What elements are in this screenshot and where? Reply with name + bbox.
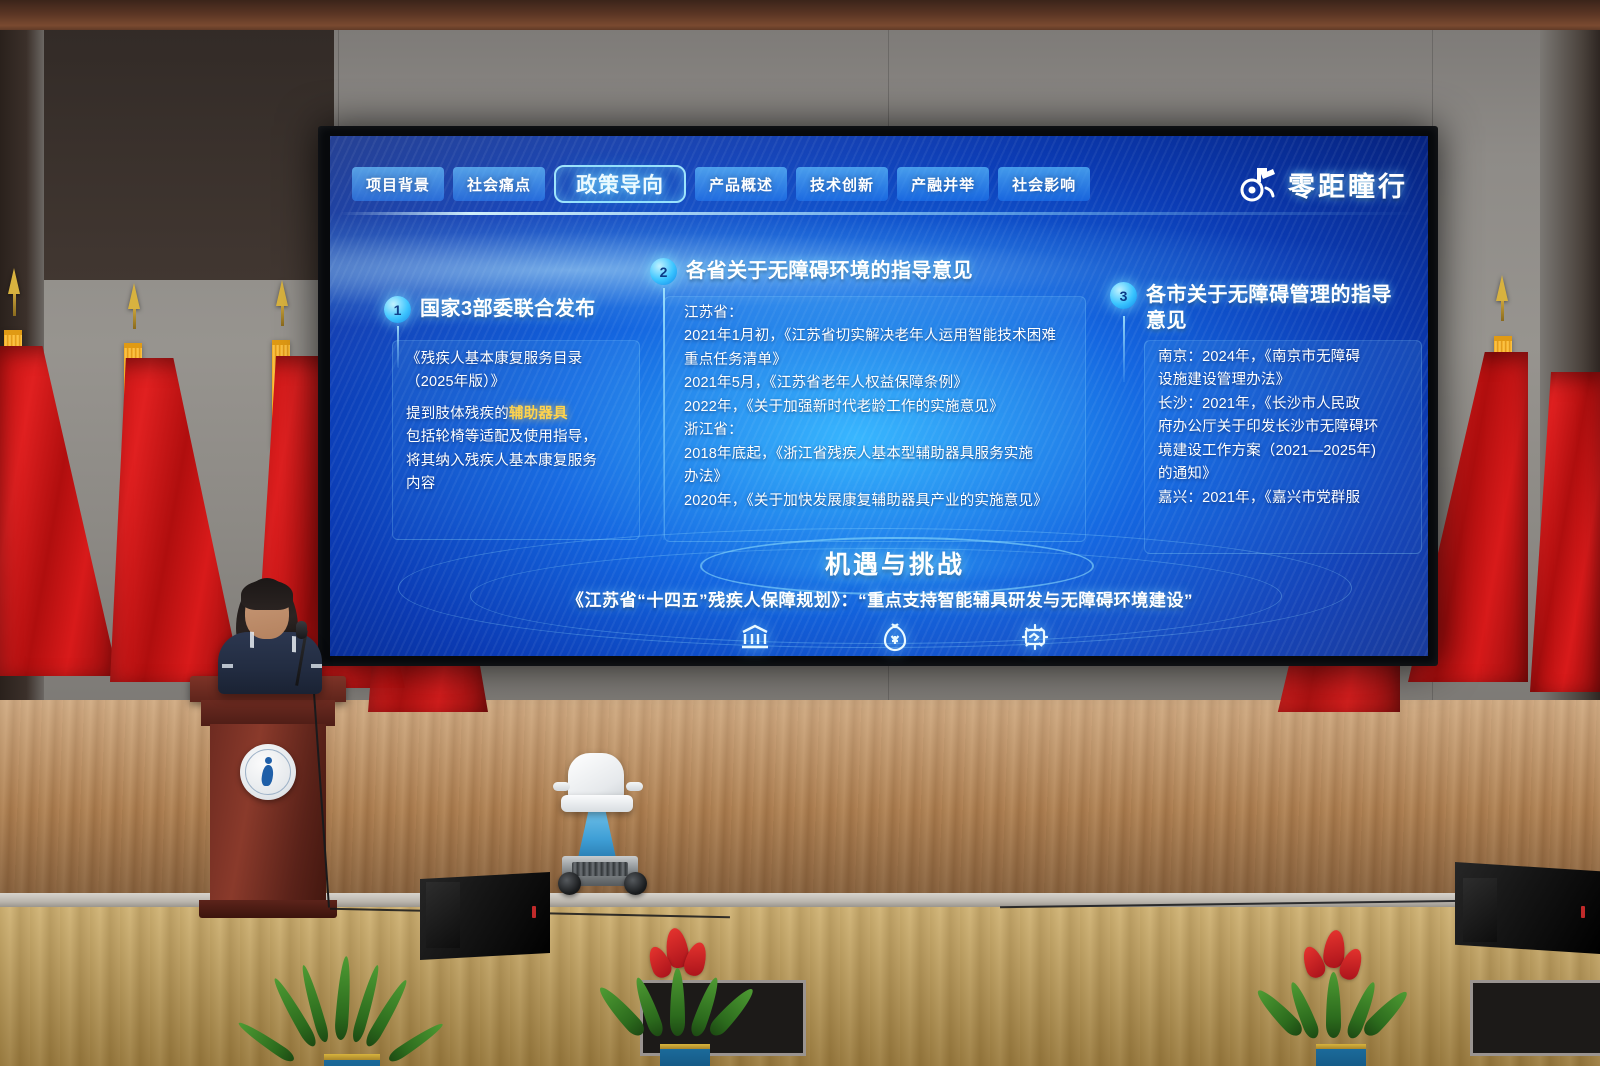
robot-wheel-left	[558, 872, 581, 895]
money-bag-icon	[882, 622, 908, 652]
tab-product-overview[interactable]: 产品概述	[695, 167, 787, 201]
card-1-desc-pre: 提到肢体残疾的	[406, 406, 509, 422]
card-2-entry-7: 办法》	[684, 466, 1088, 489]
card-1-title: 国家3部委联合发布	[420, 296, 596, 322]
card-2-entry-0: 江苏省：	[684, 302, 1088, 325]
banner-icon-row	[700, 622, 1090, 652]
card-2-badge: 2	[650, 258, 677, 285]
nav-underline	[340, 212, 1420, 215]
tab-industry-finance[interactable]: 产融并举	[897, 167, 989, 201]
conference-hall-scene: 项目背景 社会痛点 政策导向 产品概述 技术创新 产融并举 社会影响 零距瞳行 …	[0, 0, 1600, 1066]
card-2-entry-8: 2020年，《关于加快发展康复辅助器具产业的实施意见》	[684, 490, 1088, 513]
card-3-entry-3: 府办公厅关于印发长沙市无障碍环	[1158, 416, 1420, 439]
microphone-head	[296, 621, 307, 639]
card-3-title: 各市关于无障碍管理的指导意见	[1146, 282, 1396, 334]
tab-tech-innovation[interactable]: 技术创新	[796, 167, 888, 201]
card-2-header: 2 各省关于无障碍环境的指导意见	[650, 258, 1080, 285]
podium-emblem	[240, 744, 296, 800]
tab-project-background[interactable]: 项目背景	[352, 167, 444, 201]
card-3-entry-2: 长沙：2021年，《长沙市人民政	[1158, 393, 1420, 416]
slide-nav-bar: 项目背景 社会痛点 政策导向 产品概述 技术创新 产融并举 社会影响 零距瞳行	[352, 166, 1412, 202]
robot-seat	[561, 795, 633, 812]
robot-wheel-right	[624, 872, 647, 895]
stage-monitor-speaker-right	[1455, 862, 1600, 954]
government-building-icon	[740, 623, 770, 651]
policy-card-provincial: 2 各省关于无障碍环境的指导意见	[650, 258, 1080, 285]
card-3-connector	[1123, 316, 1125, 382]
policy-card-national: 1 国家3部委联合发布	[384, 296, 634, 323]
ceiling-soffit	[0, 0, 1600, 34]
card-1-desc-line-2: 包括轮椅等适配及使用指导，	[406, 426, 634, 449]
card-1-desc-highlight: 辅助器具	[509, 406, 568, 422]
card-1-header: 1 国家3部委联合发布	[384, 296, 634, 323]
card-3-entry-1: 设施建设管理办法》	[1158, 369, 1420, 392]
card-3-entry-0: 南京：2024年，《南京市无障碍	[1158, 346, 1420, 369]
robot-chair-back	[568, 753, 624, 801]
card-1-desc-line-4: 内容	[406, 473, 634, 496]
banner-quote: 《江苏省“十四五”残疾人保障规划》：“重点支持智能辅具研发与无障碍环境建设”	[420, 586, 1340, 611]
card-1-desc-line-3: 将其纳入残疾人基本康复服务	[406, 450, 634, 473]
robot-armrest-right	[626, 782, 643, 791]
presenter-sleeve-stripe	[222, 664, 233, 668]
tab-policy-guidance[interactable]: 政策导向	[554, 165, 686, 203]
card-2-title: 各省关于无障碍环境的指导意见	[686, 258, 973, 284]
tab-social-painpoints[interactable]: 社会痛点	[453, 167, 545, 201]
card-3-entry-6: 嘉兴：2021年，《嘉兴市党群服	[1158, 487, 1420, 510]
card-1-body: 《残疾人基本康复服务目录 （2025年版）》 提到肢体残疾的辅助器具 包括轮椅等…	[406, 348, 634, 497]
stage-monitor-speaker-left	[420, 872, 550, 960]
tab-social-impact[interactable]: 社会影响	[998, 167, 1090, 201]
robot-chassis-detail	[572, 862, 628, 876]
card-3-header: 3 各市关于无障碍管理的指导意见	[1110, 282, 1400, 334]
podium-base	[199, 900, 337, 918]
card-2-entry-2: 重点任务清单》	[684, 349, 1088, 372]
card-3-entry-5: 的通知》	[1158, 463, 1420, 486]
card-1-doc-line-2: （2025年版）》	[406, 371, 634, 394]
robot-armrest-left	[553, 782, 570, 791]
card-2-entry-1: 2021年1月初，《江苏省切实解决老年人运用智能技术困难	[684, 325, 1088, 348]
presenter-hair-front	[241, 580, 293, 610]
card-2-entry-5: 浙江省：	[684, 419, 1088, 442]
card-3-entry-4: 境建设工作方案（2021—2025年)	[1158, 440, 1420, 463]
card-3-body: 南京：2024年，《南京市无障碍 设施建设管理办法》 长沙：2021年，《长沙市…	[1158, 346, 1420, 510]
brand-logo: 零距瞳行	[1237, 165, 1412, 204]
card-1-desc-line-1: 提到肢体残疾的辅助器具	[406, 403, 634, 426]
brand-logo-text: 零距瞳行	[1288, 165, 1408, 204]
card-2-body: 江苏省： 2021年1月初，《江苏省切实解决老年人运用智能技术困难 重点任务清单…	[684, 302, 1088, 513]
handshake-icon	[1020, 622, 1050, 652]
banner-title: 机遇与挑战	[700, 545, 1090, 581]
card-1-badge: 1	[384, 296, 411, 323]
card-3-badge: 3	[1110, 282, 1137, 309]
card-2-entry-4: 2022年，《关于加强新时代老龄工作的实施意见》	[684, 396, 1088, 419]
wall-dark-panel	[44, 30, 334, 280]
card-1-doc-line-1: 《残疾人基本康复服务目录	[406, 348, 634, 371]
card-2-entry-3: 2021年5月，《江苏省老年人权益保障条例》	[684, 372, 1088, 395]
wheelchair-icon	[1237, 166, 1279, 202]
card-2-entry-6: 2018年底起，《浙江省残疾人基本型辅助器具服务实施	[684, 443, 1088, 466]
apron-vent	[1470, 980, 1600, 1056]
presenter-sleeve-stripe	[311, 664, 322, 668]
policy-card-municipal: 3 各市关于无障碍管理的指导意见	[1110, 282, 1400, 334]
